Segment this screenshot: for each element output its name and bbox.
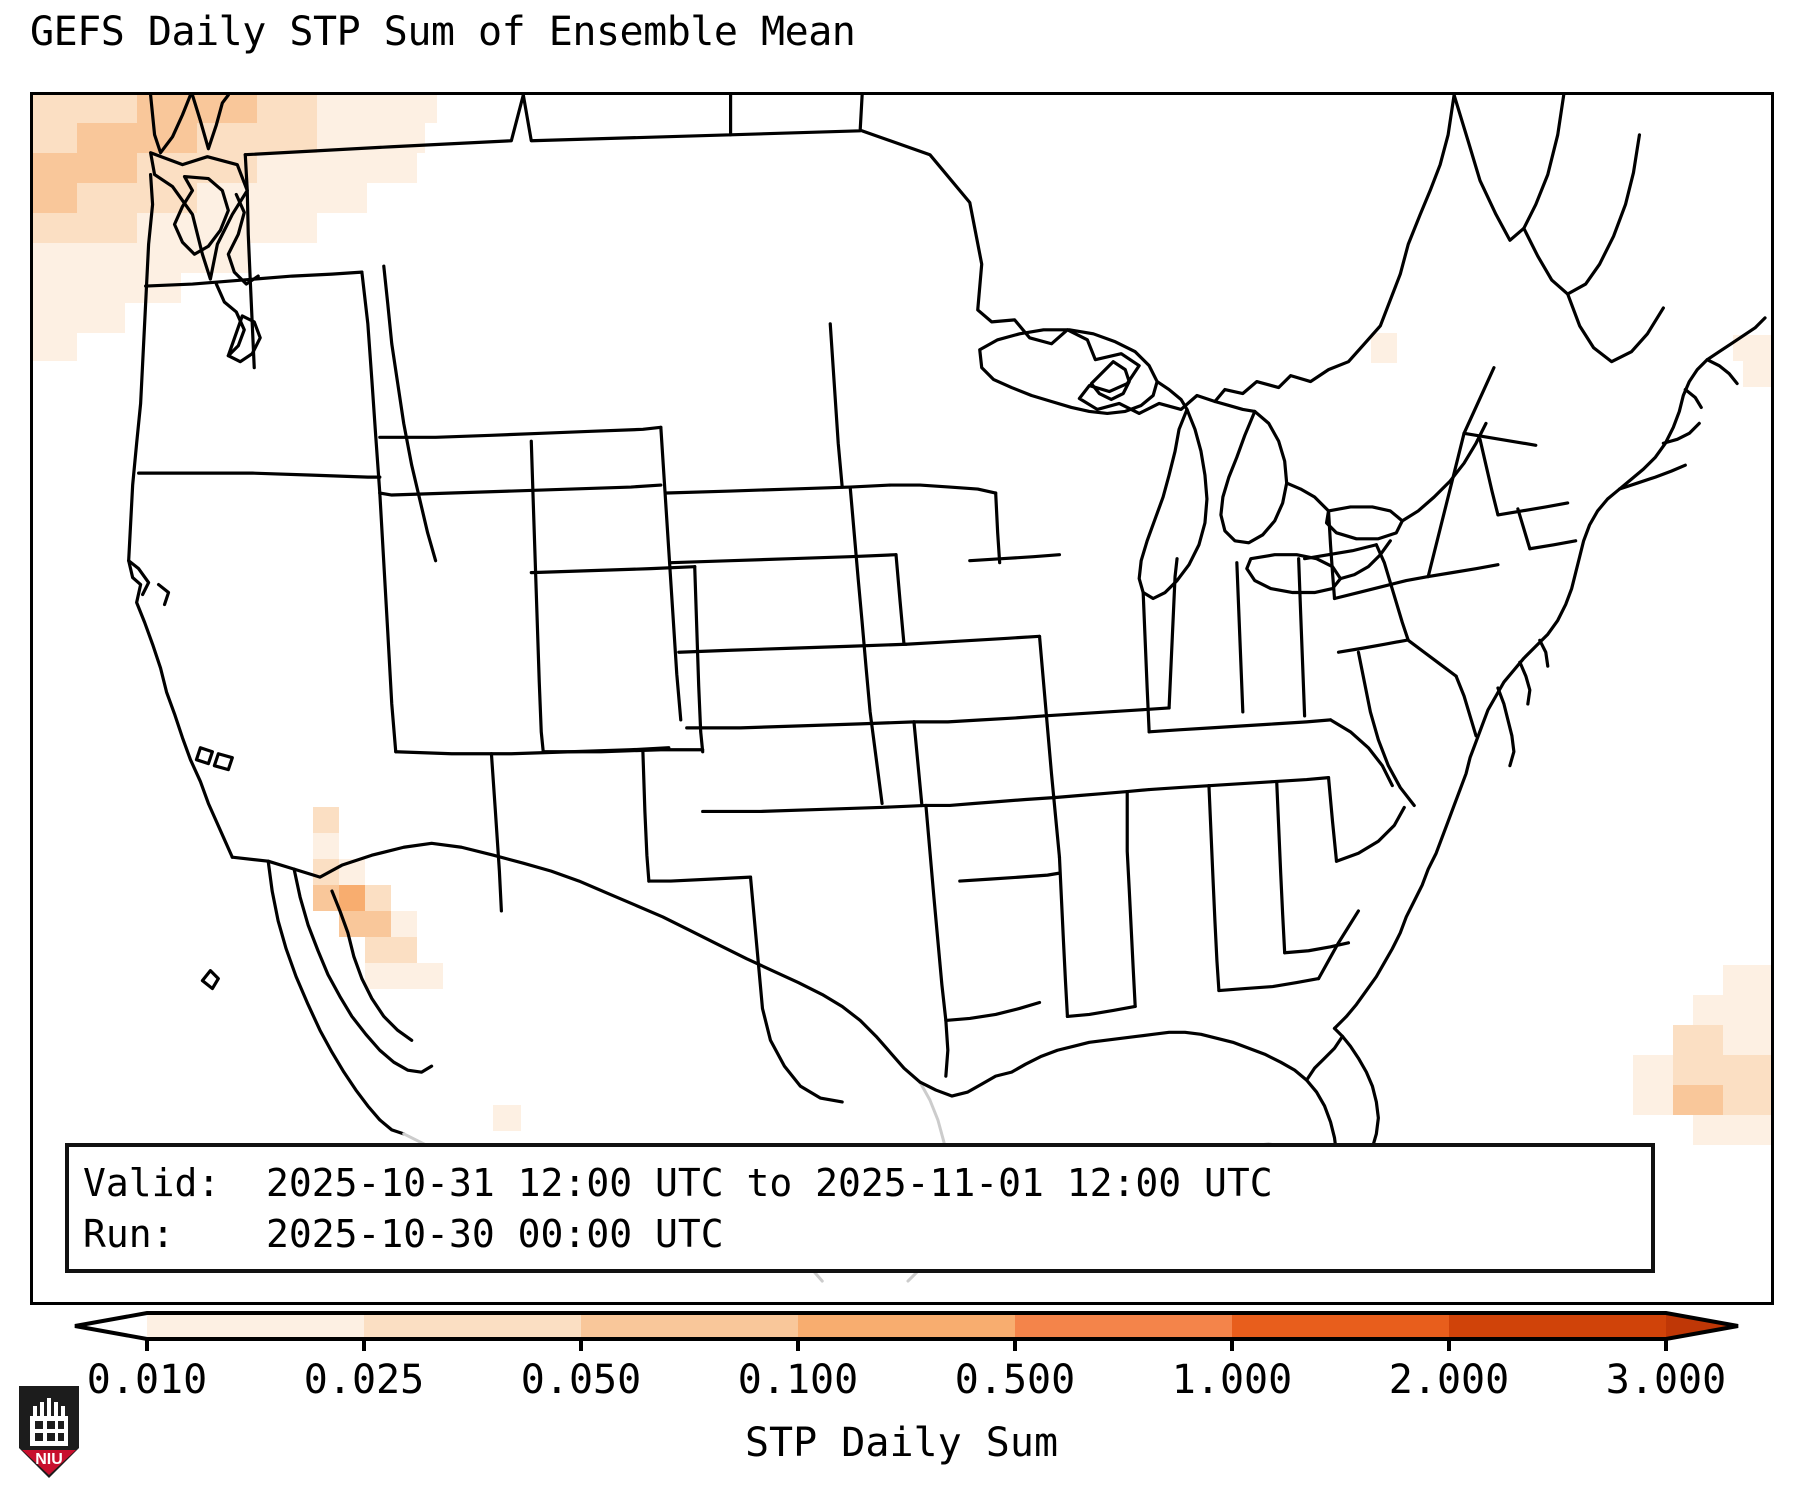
colorbar-tick-label: 0.010 [87, 1357, 207, 1403]
forecast-info-box: Valid: 2025-10-31 12:00 UTC to 2025-11-0… [65, 1143, 1655, 1273]
colorbar-band [147, 1313, 364, 1339]
page-title: GEFS Daily STP Sum of Ensemble Mean [30, 12, 855, 52]
coast-bc [151, 95, 191, 153]
colorbar-band [1232, 1313, 1449, 1339]
colorbar-band [798, 1313, 1015, 1339]
colorbar-tick-label: 0.500 [955, 1357, 1075, 1403]
colorbar-band [364, 1313, 581, 1339]
colorbar-tick-label: 2.000 [1389, 1357, 1509, 1403]
run-time-text: Run: 2025-10-30 00:00 UTC [83, 1215, 724, 1253]
map-geography [33, 95, 1771, 1302]
colorbar-tick-label: 0.025 [304, 1357, 424, 1403]
niu-logo: NIU [16, 1384, 82, 1480]
colorbar-tick-label: 3.000 [1606, 1357, 1726, 1403]
colorbar-tick-label: 0.050 [521, 1357, 641, 1403]
colorbar-title: STP Daily Sum [0, 1420, 1803, 1466]
colorbar-tick-label: 0.100 [738, 1357, 858, 1403]
colorbar-swatches [0, 1307, 1803, 1351]
valid-time-text: Valid: 2025-10-31 12:00 UTC to 2025-11-0… [83, 1164, 1273, 1202]
colorbar[interactable]: 0.0100.0250.0500.1000.5001.0002.0003.000 [0, 1307, 1803, 1377]
map-panel [30, 92, 1774, 1305]
colorbar-band [1449, 1313, 1666, 1339]
niu-logo-text: NIU [35, 1451, 63, 1468]
colorbar-band [581, 1313, 798, 1339]
colorbar-tick-label: 1.000 [1172, 1357, 1292, 1403]
colorbar-band [1015, 1313, 1232, 1339]
